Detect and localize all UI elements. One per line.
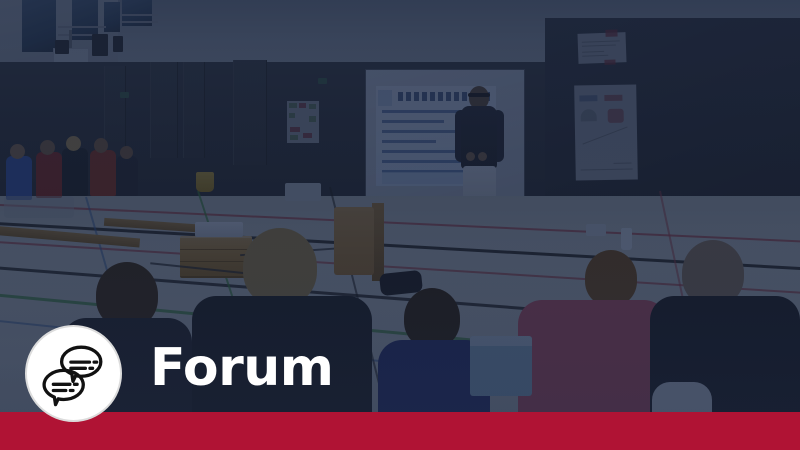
speech-bubbles-icon — [41, 341, 107, 407]
forum-badge — [25, 325, 122, 422]
forum-banner: Forum — [0, 0, 800, 450]
forum-title: Forum — [150, 342, 334, 394]
brand-bar — [0, 412, 800, 450]
